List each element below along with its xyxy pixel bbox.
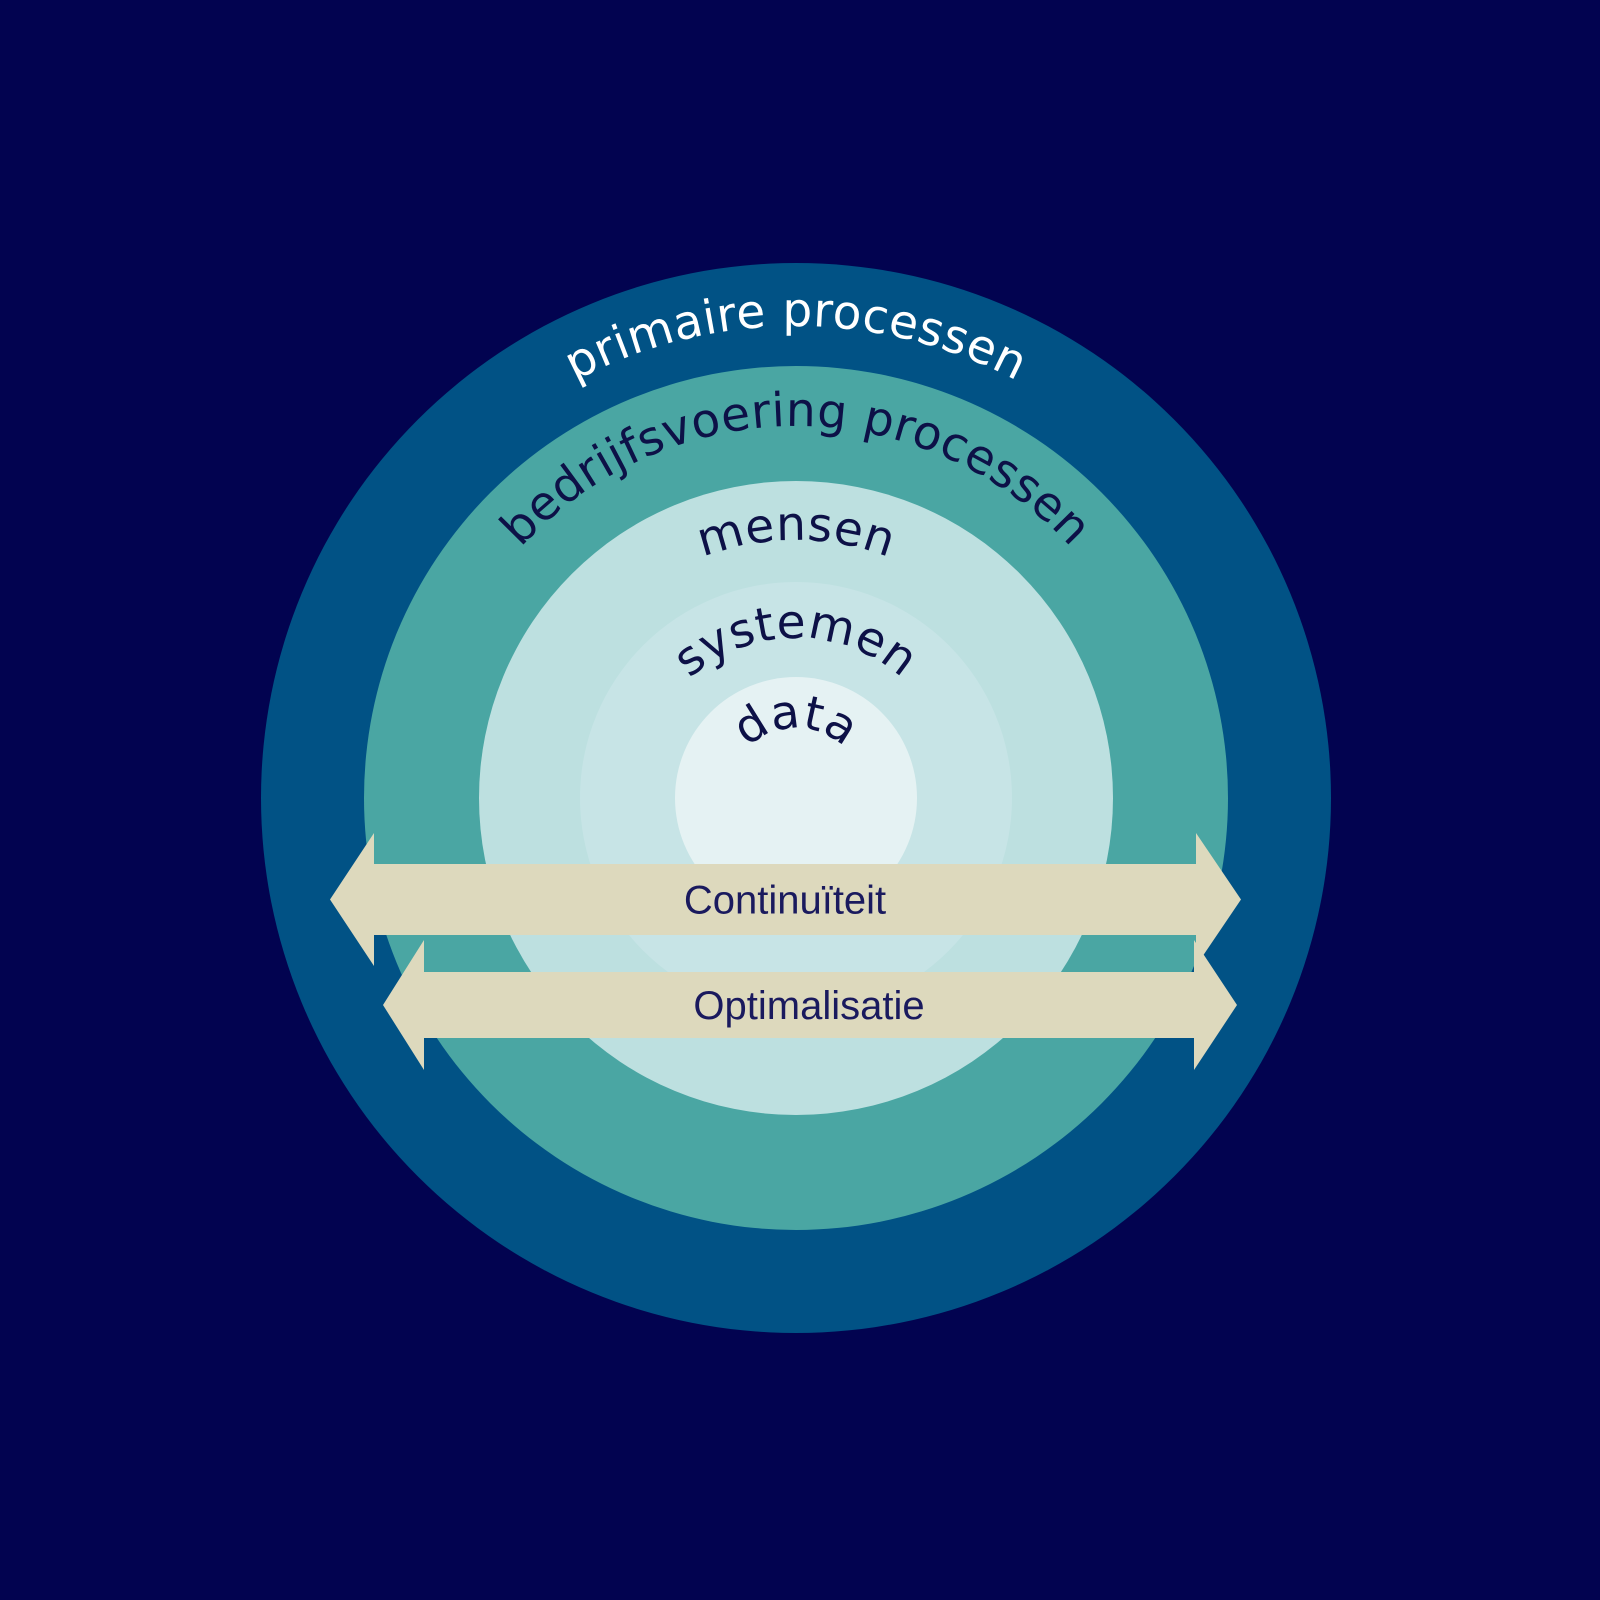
optimalisatie-label: Optimalisatie	[693, 984, 924, 1028]
concentric-diagram: primaire processen bedrijfsvoering proce…	[0, 0, 1600, 1600]
continuiteit-label: Continuïteit	[684, 879, 886, 923]
diagram-canvas: primaire processen bedrijfsvoering proce…	[0, 0, 1600, 1600]
